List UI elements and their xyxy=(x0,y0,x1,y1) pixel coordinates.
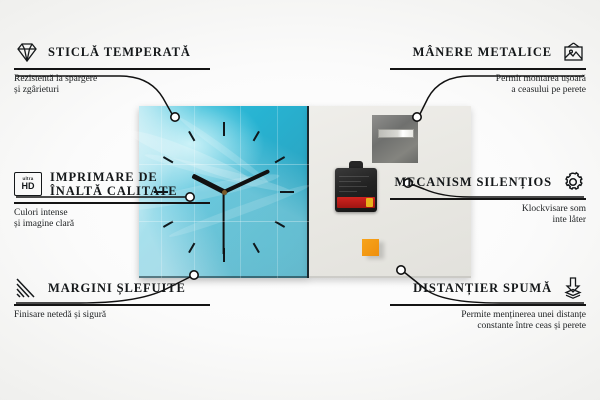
callout-title: MECANISM SILENȚIOS xyxy=(394,175,552,189)
diagonal-lines-icon xyxy=(14,276,40,300)
callout-desc-line1: Finisare netedă și sigură xyxy=(14,310,210,322)
callout-foam-spacer: DISTANȚIER SPUMĂ Permite menținerea unei… xyxy=(390,276,586,333)
ultra-hd-badge-icon: ultra HD xyxy=(14,172,42,196)
callout-desc-line2: inte låter xyxy=(390,215,586,227)
callout-polished-edges: MARGINI ȘLEFUITE Finisare netedă și sigu… xyxy=(14,276,210,321)
infographic-canvas: STICLĂ TEMPERATĂ Rezistentă la spargere … xyxy=(0,0,600,400)
callout-desc-line2: și zgârieturi xyxy=(14,85,210,97)
picture-frame-icon xyxy=(560,40,586,64)
callout-rule xyxy=(390,68,586,70)
callout-rule xyxy=(390,304,586,306)
gear-icon xyxy=(560,170,586,194)
badge-hd-label: HD xyxy=(22,182,35,191)
callout-title: STICLĂ TEMPERATĂ xyxy=(48,45,191,59)
callout-desc-line2: și imagine clară xyxy=(14,219,210,231)
battery xyxy=(337,197,375,208)
callout-rule xyxy=(14,304,210,306)
callout-desc-line1: Rezistentă la spargere xyxy=(14,74,210,86)
clock-center-pin xyxy=(222,190,227,195)
callout-rule xyxy=(14,202,210,204)
callout-title: IMPRIMARE DE ÎNALTĂ CALITATE xyxy=(50,170,210,198)
callout-title: MÂNERE METALICE xyxy=(413,45,552,59)
hanger-strip xyxy=(378,129,414,138)
callout-desc-line2: constante între ceas și perete xyxy=(390,321,586,333)
callout-rule xyxy=(14,68,210,70)
foam-spacer xyxy=(362,239,379,256)
callout-metal-handles: MÂNERE METALICE Permit montarea ușoară a… xyxy=(390,40,586,97)
clock-second-hand xyxy=(223,192,225,254)
down-arrow-stack-icon xyxy=(560,276,586,300)
callout-rule xyxy=(390,198,586,200)
callout-silent-mechanism: MECANISM SILENȚIOS Klockvisare som inte … xyxy=(390,170,586,227)
clock-mechanism xyxy=(335,168,377,212)
callout-desc-line2: a ceasului pe perete xyxy=(390,85,586,97)
callout-title: MARGINI ȘLEFUITE xyxy=(48,281,186,295)
diamond-icon xyxy=(14,40,40,64)
mechanism-body xyxy=(335,168,377,212)
callout-hq-print: ultra HD IMPRIMARE DE ÎNALTĂ CALITATE Cu… xyxy=(14,170,210,231)
callout-title: DISTANȚIER SPUMĂ xyxy=(413,281,552,295)
metal-hanger-plate xyxy=(372,115,418,163)
callout-desc-line1: Culori intense xyxy=(14,208,210,220)
callout-tempered-glass: STICLĂ TEMPERATĂ Rezistentă la spargere … xyxy=(14,40,210,97)
callout-desc-line1: Permite menținerea unei distanțe xyxy=(390,310,586,322)
callout-desc-line1: Permit montarea ușoară xyxy=(390,74,586,86)
callout-desc-line1: Klockvisare som xyxy=(390,204,586,216)
